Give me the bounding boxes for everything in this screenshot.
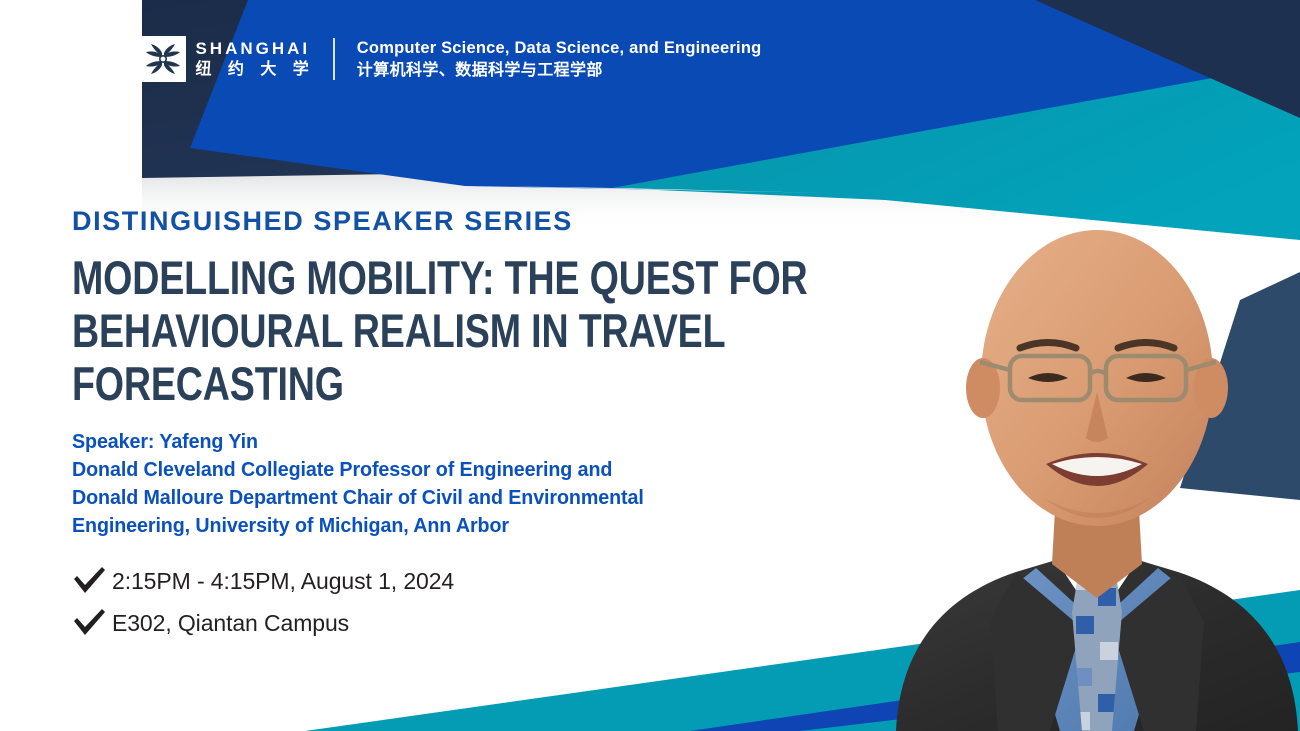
detail-text-datetime: 2:15PM - 4:15PM, August 1, 2024: [112, 566, 454, 596]
speaker-info: Speaker: Yafeng Yin Donald Cleveland Col…: [72, 428, 872, 540]
speaker-affiliation-line-1: Donald Cleveland Collegiate Professor of…: [72, 456, 840, 484]
detail-row-datetime: 2:15PM - 4:15PM, August 1, 2024: [72, 566, 872, 596]
speaker-affiliation-line-2: Donald Malloure Department Chair of Civi…: [72, 484, 840, 512]
shanghai-wordmark-cn: 纽 约 大 学: [195, 59, 314, 80]
department-name-en: Computer Science, Data Science, and Engi…: [357, 37, 762, 59]
check-icon: [72, 566, 112, 596]
nyu-wordmark-en: NYU: [78, 39, 132, 59]
poster-canvas: NYU 上 海: [0, 0, 1300, 731]
event-details: 2:15PM - 4:15PM, August 1, 2024 E302, Qi…: [72, 566, 872, 638]
detail-text-location: E302, Qiantan Campus: [112, 608, 349, 638]
logo-divider: [333, 38, 335, 80]
shanghai-wordmark: SHANGHAI 纽 约 大 学: [195, 39, 314, 80]
detail-row-location: E302, Qiantan Campus: [72, 608, 872, 638]
speaker-portrait: [886, 192, 1300, 731]
talk-title: MODELLING MOBILITY: THE QUEST FOR BEHAVI…: [72, 251, 896, 410]
nyu-shanghai-logo-lockup: NYU 上 海: [78, 36, 761, 82]
nyu-torch-flower-icon: [140, 36, 186, 82]
nyu-wordmark-cn: 上 海: [78, 59, 132, 80]
poster-content: DISTINGUISHED SPEAKER SERIES MODELLING M…: [72, 205, 872, 650]
department-name: Computer Science, Data Science, and Engi…: [357, 37, 762, 82]
shanghai-wordmark-en: SHANGHAI: [195, 39, 314, 59]
nyu-wordmark: NYU 上 海: [78, 39, 132, 80]
speaker-name-line: Speaker: Yafeng Yin: [72, 428, 840, 456]
speaker-affiliation-line-3: Engineering, University of Michigan, Ann…: [72, 512, 840, 540]
series-eyebrow: DISTINGUISHED SPEAKER SERIES: [72, 205, 872, 237]
check-icon: [72, 608, 112, 638]
department-name-cn: 计算机科学、数据科学与工程学部: [357, 59, 762, 82]
